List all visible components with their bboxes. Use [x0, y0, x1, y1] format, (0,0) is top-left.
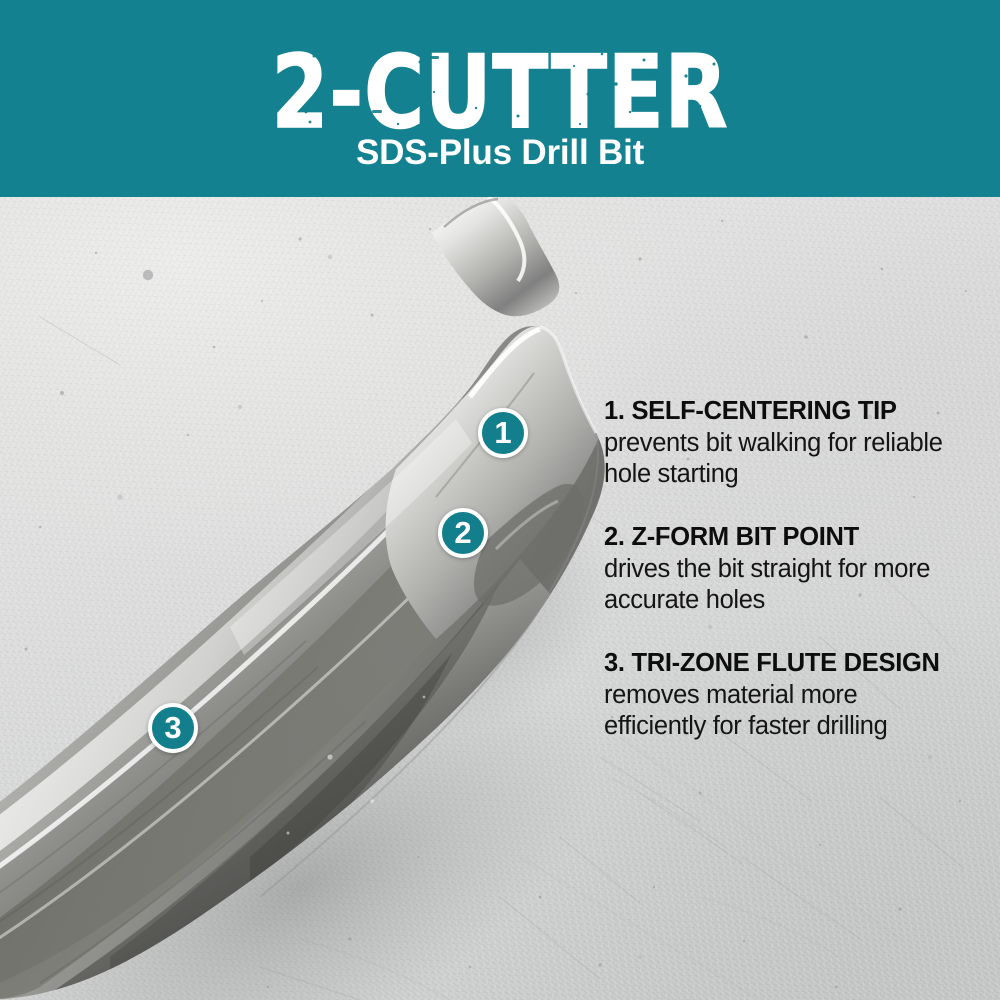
feature-title-1: 1. SELF-CENTERING TIP [604, 396, 956, 427]
feature-description-1: prevents bit walking for reliable hole s… [604, 428, 956, 490]
header-band: 2-CUTTER [0, 0, 1000, 197]
page-title: 2-CUTTER [50, 42, 950, 143]
feature-item-3: 3. TRI-ZONE FLUTE DESIGN removes materia… [604, 648, 956, 742]
product-infographic: 2-CUTTER [0, 0, 1000, 1000]
callout-badge-2[interactable]: 2 [438, 508, 488, 558]
page-subtitle: SDS-Plus Drill Bit [0, 133, 1000, 173]
feature-description-3: removes material more efficiently for fa… [604, 680, 956, 742]
callout-badge-3[interactable]: 3 [148, 703, 198, 753]
feature-description-2: drives the bit straight for more accurat… [604, 554, 956, 616]
header-title-wrap: 2-CUTTER [0, 22, 1000, 130]
feature-item-1: 1. SELF-CENTERING TIP prevents bit walki… [604, 396, 956, 490]
feature-title-3: 3. TRI-ZONE FLUTE DESIGN [604, 648, 956, 679]
feature-item-2: 2. Z-FORM BIT POINT drives the bit strai… [604, 522, 956, 616]
feature-list: 1. SELF-CENTERING TIP prevents bit walki… [604, 396, 956, 742]
callout-badge-1[interactable]: 1 [478, 408, 528, 458]
feature-title-2: 2. Z-FORM BIT POINT [604, 522, 956, 553]
